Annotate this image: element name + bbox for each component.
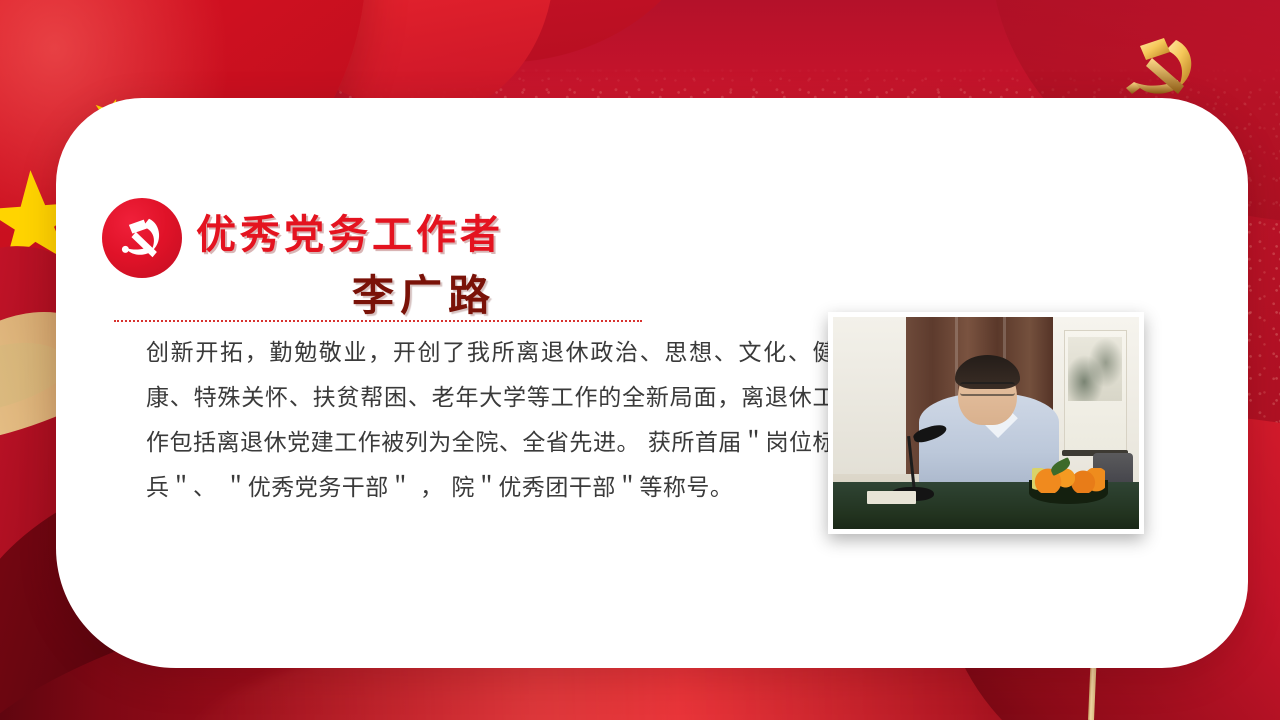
photo-person-glasses — [960, 382, 1015, 397]
photo-wall-left — [833, 317, 906, 474]
photo-scroll-artwork — [1068, 337, 1122, 401]
description-paragraph: 创新开拓，勤勉敬业，开创了我所离退休政治、思想、文化、健康、特殊关怀、扶贫帮困、… — [146, 331, 836, 511]
photo-scroll-painting — [1064, 330, 1127, 455]
slide-root: 优秀党务工作者 李广路 创新开拓，勤勉敬业，开创了我所离退休政治、思想、文化、健… — [0, 0, 1280, 720]
dotted-divider — [114, 320, 642, 322]
photo-documents — [867, 491, 916, 504]
person-name: 李广路 — [352, 262, 496, 323]
portrait-photo-frame — [828, 312, 1144, 534]
hammer-and-sickle-icon — [102, 198, 182, 278]
gold-hammer-sickle-emblem-icon — [1112, 30, 1208, 108]
portrait-photo — [833, 317, 1139, 529]
photo-oranges — [1032, 468, 1105, 493]
page-title: 优秀党务工作者 — [196, 202, 504, 260]
